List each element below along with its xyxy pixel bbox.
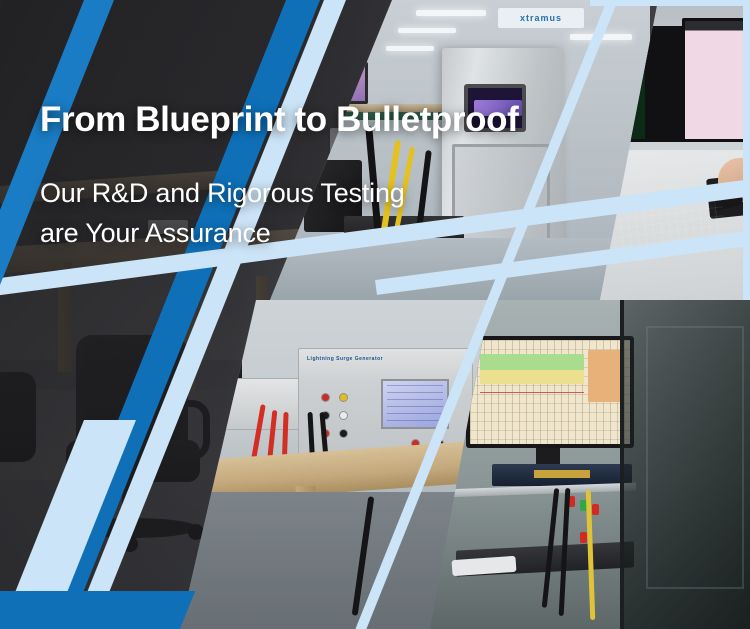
log-side-panel [588, 350, 624, 402]
banana-jack [339, 393, 348, 402]
banana-jack [339, 429, 348, 438]
bench-monitor [316, 62, 368, 104]
page-title: From Blueprint to Bulletproof [40, 100, 600, 140]
ceiling-light [416, 10, 486, 16]
promo-banner: xtramus [0, 0, 750, 629]
ceiling-light [386, 46, 434, 51]
instrument-label: Lightning Surge Generator [307, 355, 464, 363]
banana-jack [321, 393, 330, 402]
log-row-warn [480, 370, 584, 384]
log-row-pass [480, 354, 584, 370]
subheading-line-2: are Your Assurance [40, 214, 600, 254]
subheading-line-1: Our R&D and Rigorous Testing [40, 174, 600, 214]
schematic-window [688, 38, 746, 124]
monitor-screen [470, 340, 630, 444]
ceiling-light [398, 28, 456, 33]
log-threshold-line [480, 392, 584, 393]
banner-copy: From Blueprint to Bulletproof Our R&D an… [40, 100, 600, 254]
bottom-accent-bar [0, 591, 152, 629]
monitor-right [682, 18, 750, 142]
red-clip [592, 504, 599, 515]
banana-jack [339, 411, 348, 420]
red-clip [580, 532, 587, 543]
brand-label-xtramus: xtramus [498, 8, 584, 28]
banner-subheading: Our R&D and Rigorous Testing are Your As… [40, 174, 600, 254]
frame-edge-top [590, 0, 750, 6]
test-log-monitor [466, 336, 634, 448]
chamber-glass-door [620, 300, 750, 629]
device-under-test [198, 360, 242, 394]
frame-edge-right [743, 0, 750, 300]
